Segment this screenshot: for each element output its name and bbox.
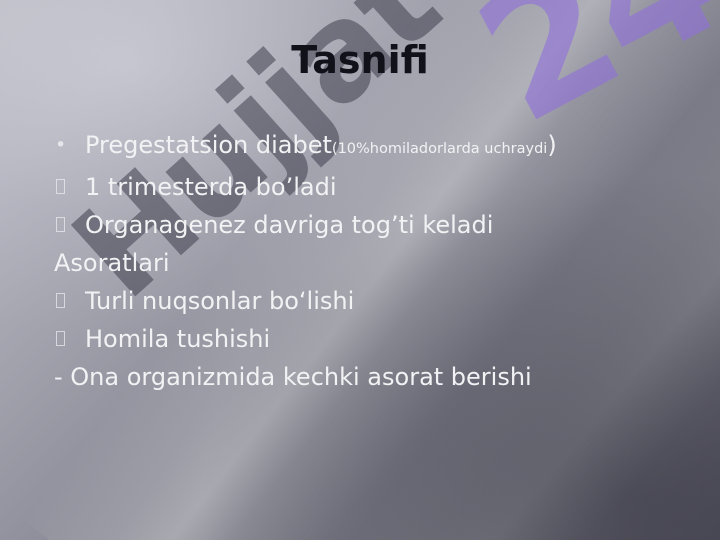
list-item-label: Organagenez davriga tog’ti keladi bbox=[50, 206, 493, 244]
list-item-label: Pregestatsion diabet(10%homiladorlarda u… bbox=[50, 126, 557, 168]
presentation-slide: Hujjat 24 Tasnifi • Pregestatsion diabet… bbox=[0, 0, 720, 540]
section-heading-label: Asoratlari bbox=[50, 244, 170, 282]
bullet-box-icon bbox=[50, 168, 90, 206]
bullet-box-icon bbox=[50, 206, 90, 244]
list-item-label: Turli nuqsonlar bo‘lishi bbox=[50, 282, 354, 320]
list-item-note-close: ) bbox=[547, 131, 556, 159]
list-item: • Pregestatsion diabet(10%homiladorlarda… bbox=[50, 126, 690, 168]
page-title: Tasnifi bbox=[0, 38, 720, 82]
bullet-box-icon bbox=[50, 320, 90, 358]
slide-content: Tasnifi • Pregestatsion diabet(10%homila… bbox=[0, 0, 720, 540]
list-item: Organagenez davriga tog’ti keladi bbox=[50, 206, 690, 244]
list-item-note: 10%homiladorlarda uchraydi bbox=[338, 141, 548, 157]
dash-item: - Ona organizmida kechki asorat berishi bbox=[50, 358, 690, 396]
bullet-box-icon bbox=[50, 282, 90, 320]
list-item-text: Pregestatsion diabet bbox=[85, 131, 332, 159]
bullet-dot-icon: • bbox=[50, 126, 89, 164]
list-item: Homila tushishi bbox=[50, 320, 690, 358]
section-heading-asoratlari: Asoratlari bbox=[50, 244, 690, 282]
body-text-block: • Pregestatsion diabet(10%homiladorlarda… bbox=[50, 126, 690, 396]
list-item-label: 1 trimesterda bo’ladi bbox=[50, 168, 337, 206]
list-item: Turli nuqsonlar bo‘lishi bbox=[50, 282, 690, 320]
list-item: 1 trimesterda bo’ladi bbox=[50, 168, 690, 206]
dash-item-label: - Ona organizmida kechki asorat berishi bbox=[50, 358, 532, 396]
